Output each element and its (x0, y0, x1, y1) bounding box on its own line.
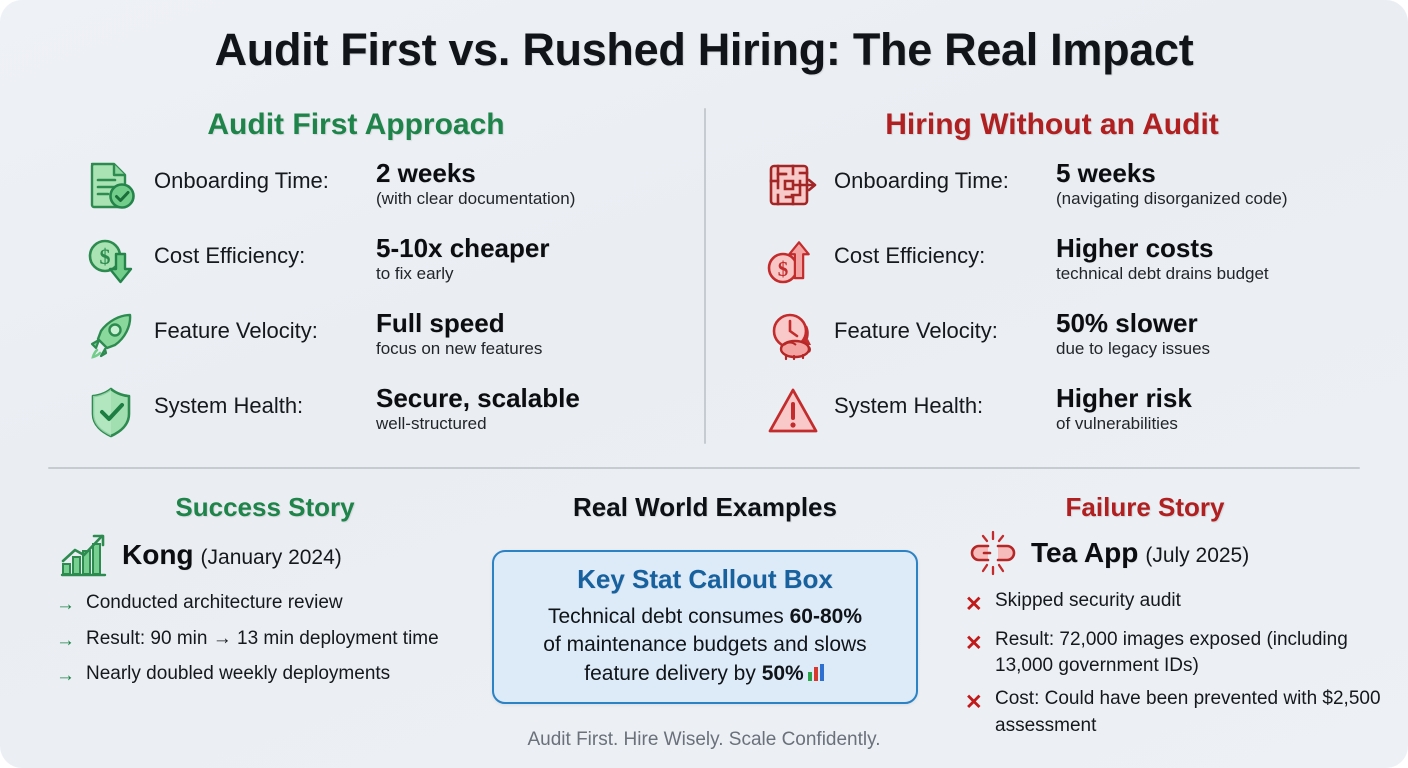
arrow-icon: → (56, 661, 86, 691)
broken-link-icon (965, 529, 1021, 577)
document-check-icon (80, 155, 142, 217)
metric-value: Secure, scalable (376, 384, 580, 413)
list-item: → Result: 90 min → 13 min deployment tim… (56, 626, 486, 656)
callout-stat-primary: 60-80% (790, 605, 862, 628)
success-company-name: Kong (122, 539, 194, 570)
list-item: ✕ Result: 72,000 images exposed (includi… (965, 627, 1395, 681)
infographic-canvas: Audit First vs. Rushed Hiring: The Real … (0, 0, 1408, 768)
metric-label: Onboarding Time: (142, 155, 376, 194)
maze-icon (762, 155, 824, 217)
audit-first-metrics: Onboarding Time: 2 weeks (with clear doc… (80, 155, 680, 455)
success-story-block: Kong(January 2024) → Conducted architect… (56, 530, 486, 697)
arrow-icon: → (56, 626, 86, 656)
failure-company-date: (July 2025) (1145, 544, 1249, 567)
callout-body: Technical debt consumes 60-80% of mainte… (494, 603, 916, 690)
key-stat-callout-box: Key Stat Callout Box Technical debt cons… (492, 550, 918, 704)
metric-value: 50% slower (1056, 309, 1210, 338)
metric-row: Feature Velocity: Full speed focus on ne… (80, 305, 680, 380)
warning-triangle-icon (762, 380, 824, 442)
cross-icon: ✕ (965, 627, 995, 660)
metric-subtext: of vulnerabilities (1056, 413, 1192, 434)
list-item-text: Skipped security audit (995, 588, 1181, 615)
cross-icon: ✕ (965, 686, 995, 719)
metric-value: Higher costs (1056, 234, 1269, 263)
metric-label: System Health: (824, 380, 1056, 419)
metric-value: 5 weeks (1056, 159, 1288, 188)
callout-title: Key Stat Callout Box (494, 564, 916, 595)
failure-story-heading: Failure Story (920, 492, 1370, 523)
metric-subtext: focus on new features (376, 338, 542, 359)
failure-story-title-row: Tea App(July 2025) (965, 528, 1395, 578)
metric-label: Cost Efficiency: (142, 230, 376, 269)
dollar-down-arrow-icon: $ (80, 230, 142, 292)
metric-value: 5-10x cheaper (376, 234, 549, 263)
metric-label: Feature Velocity: (142, 305, 376, 344)
metric-value: Full speed (376, 309, 542, 338)
success-story-title-row: Kong(January 2024) (56, 530, 486, 580)
cross-icon: ✕ (965, 588, 995, 621)
footer-tagline: Audit First. Hire Wisely. Scale Confiden… (0, 729, 1408, 751)
dollar-up-arrow-icon: $ (762, 230, 824, 292)
growth-chart-icon (56, 531, 112, 579)
shield-check-icon (80, 380, 142, 442)
metric-row: Onboarding Time: 5 weeks (navigating dis… (762, 155, 1382, 230)
rocket-icon (80, 305, 142, 367)
metric-subtext: technical debt drains budget (1056, 263, 1269, 284)
metric-row: Onboarding Time: 2 weeks (with clear doc… (80, 155, 680, 230)
callout-line1-prefix: Technical debt consumes (548, 605, 790, 628)
callout-line3-prefix: feature delivery by (584, 662, 761, 685)
metric-subtext: to fix early (376, 263, 549, 284)
metric-value: 2 weeks (376, 159, 575, 188)
metric-row: System Health: Higher risk of vulnerabil… (762, 380, 1382, 455)
metric-subtext: well-structured (376, 413, 580, 434)
success-story-heading: Success Story (40, 492, 490, 523)
list-item: → Conducted architecture review (56, 590, 486, 620)
metric-row: Feature Velocity: 50% slower due to lega… (762, 305, 1382, 380)
metric-row: $ Cost Efficiency: 5-10x cheaper to fix … (80, 230, 680, 305)
bar-chart-icon (807, 662, 826, 690)
metric-subtext: (with clear documentation) (376, 188, 575, 209)
clock-turtle-icon (762, 305, 824, 367)
failure-bullet-list: ✕ Skipped security audit ✕ Result: 72,00… (965, 588, 1395, 740)
failure-company-name: Tea App (1031, 537, 1138, 568)
failure-story-block: Tea App(July 2025) ✕ Skipped security au… (965, 528, 1395, 746)
page-title: Audit First vs. Rushed Hiring: The Real … (0, 24, 1408, 76)
metric-subtext: due to legacy issues (1056, 338, 1210, 359)
metric-value: Higher risk (1056, 384, 1192, 413)
no-audit-metrics: Onboarding Time: 5 weeks (navigating dis… (762, 155, 1382, 455)
callout-line2: of maintenance budgets and slows (543, 633, 866, 656)
right-column-heading: Hiring Without an Audit (736, 108, 1368, 142)
metric-row: $ Cost Efficiency: Higher costs technica… (762, 230, 1382, 305)
metric-row: System Health: Secure, scalable well-str… (80, 380, 680, 455)
metric-label: Cost Efficiency: (824, 230, 1056, 269)
real-world-examples-heading: Real World Examples (480, 492, 930, 523)
success-company-date: (January 2024) (201, 546, 342, 569)
horizontal-divider (48, 467, 1360, 469)
vertical-divider (704, 108, 706, 444)
list-item: ✕ Skipped security audit (965, 588, 1395, 621)
callout-stat-secondary: 50% (762, 662, 804, 685)
success-bullet-list: → Conducted architecture review → Result… (56, 590, 486, 691)
list-item-text: Result: 90 min → 13 min deployment time (86, 626, 439, 653)
metric-label: System Health: (142, 380, 376, 419)
svg-text:$: $ (778, 257, 789, 281)
list-item: → Nearly doubled weekly deployments (56, 661, 486, 691)
arrow-icon: → (56, 590, 86, 620)
metric-label: Onboarding Time: (824, 155, 1056, 194)
svg-text:$: $ (100, 244, 111, 269)
left-column-heading: Audit First Approach (40, 108, 672, 142)
list-item-text: Conducted architecture review (86, 590, 343, 617)
metric-subtext: (navigating disorganized code) (1056, 188, 1288, 209)
list-item-text: Result: 72,000 images exposed (including… (995, 627, 1395, 681)
list-item-text: Nearly doubled weekly deployments (86, 661, 390, 688)
metric-label: Feature Velocity: (824, 305, 1056, 344)
